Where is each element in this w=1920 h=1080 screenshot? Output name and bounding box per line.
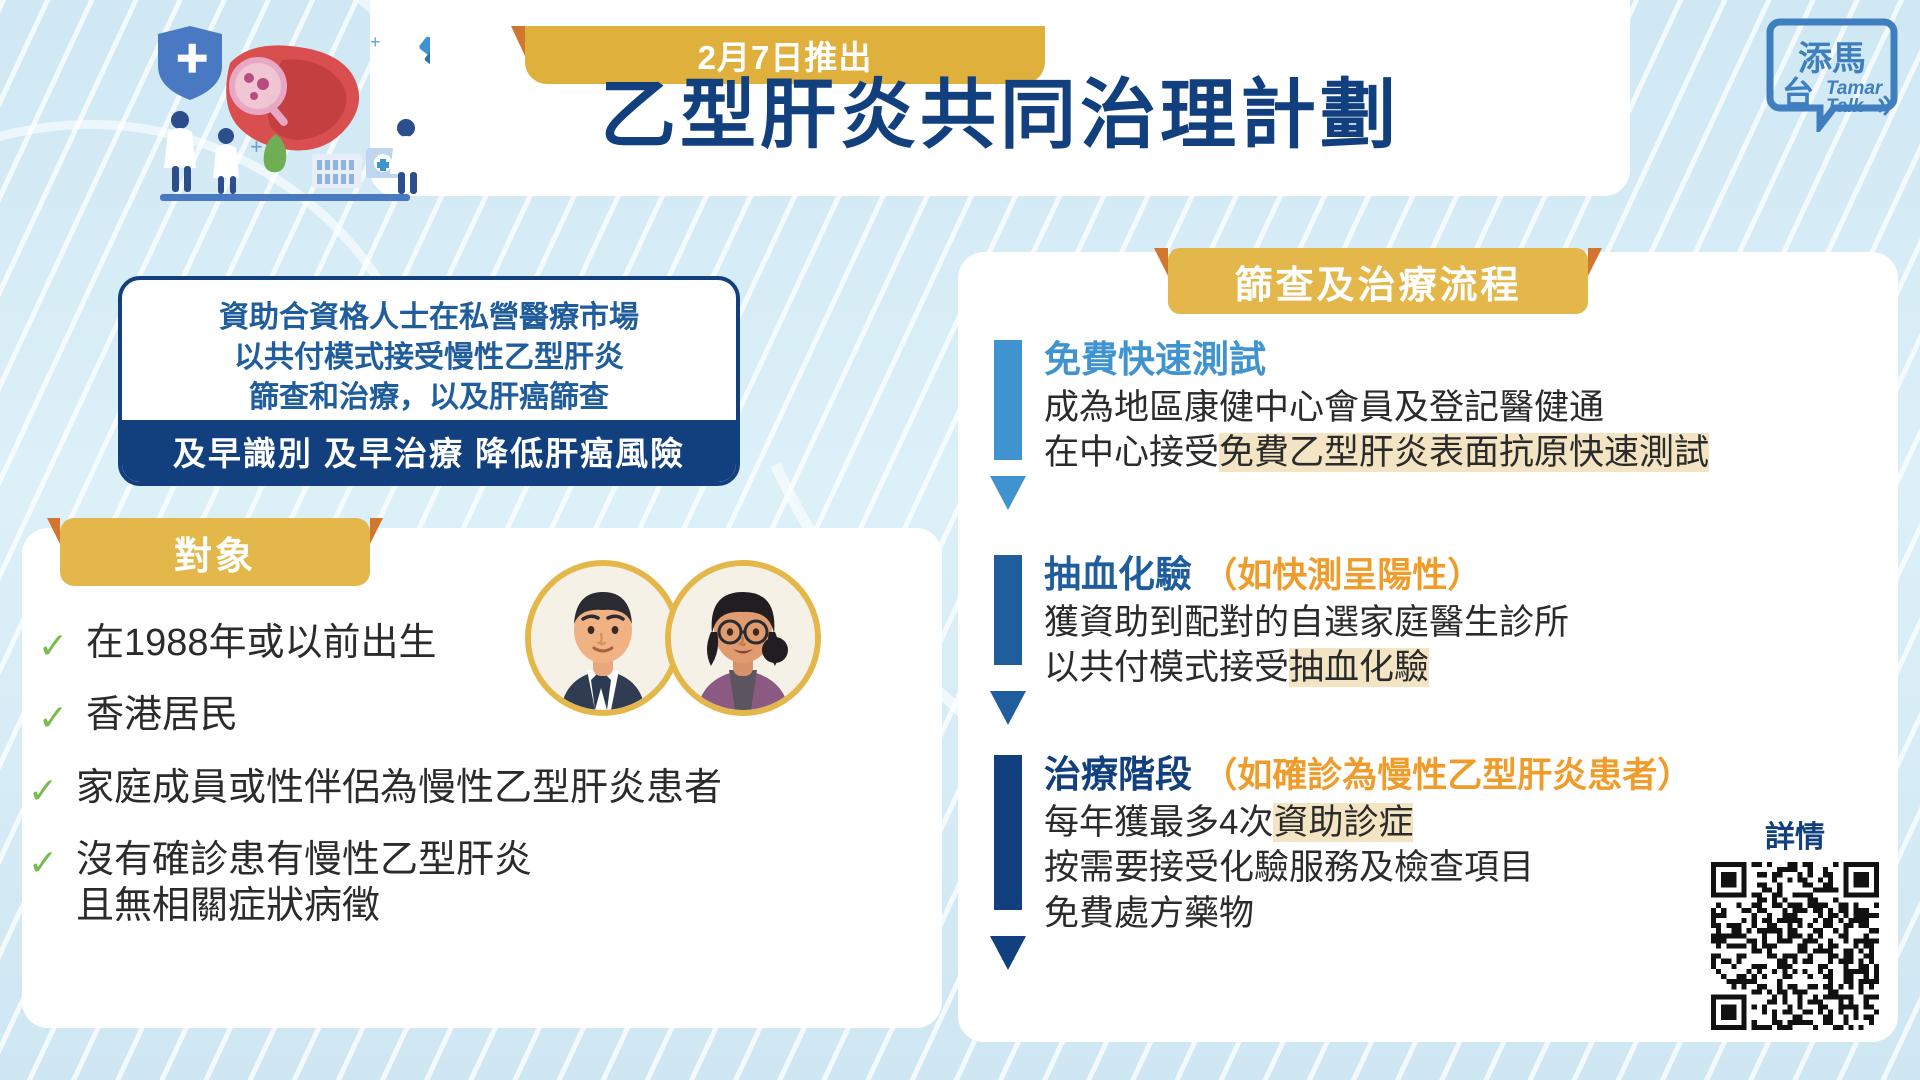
badge-fold-icon: [511, 26, 525, 56]
check-icon: ✓: [38, 628, 78, 664]
qr-label: 詳情: [1700, 812, 1890, 856]
step-line-plain: 免費處方藥物: [1044, 894, 1254, 933]
logo-en-talk: Talk: [1826, 96, 1865, 117]
target-item-label: 在1988年或以前出生: [86, 620, 437, 666]
step-line: 以共付模式接受抽血化驗: [1044, 645, 1870, 691]
target-item-label: 香港居民: [86, 692, 238, 738]
step-title-label: 治療階段: [1044, 754, 1192, 795]
step-line-before: 每年獲最多4次: [1044, 803, 1273, 842]
step-title: 免費快速測試: [1044, 340, 1870, 381]
step-line-highlight: 免費乙型肝炎表面抗原快速測試: [1219, 433, 1709, 472]
process-badge: 篩查及治療流程: [1168, 248, 1588, 314]
logo-cn-text: 添馬: [1798, 40, 1866, 78]
step-title: 治療階段 （如確診為慢性乙型肝炎患者）: [1044, 755, 1870, 796]
step-line: 在中心接受免費乙型肝炎表面抗原快速測試: [1044, 430, 1870, 476]
avatar-female: [665, 560, 821, 716]
step-line-plain: 獲資助到配對的自選家庭醫生診所: [1044, 603, 1569, 642]
intro-line-3: 篩查和治療，以及肝癌篩查: [132, 378, 726, 418]
target-badge: 對象: [60, 518, 370, 586]
step-line-highlight: 資助診症: [1273, 803, 1413, 842]
page-title: 乙型肝炎共同治理計劃: [370, 78, 1630, 154]
target-item-label: 家庭成員或性伴侶為慢性乙型肝炎患者: [76, 765, 722, 811]
intro-line-1: 資助合資格人士在私營醫療市場: [132, 298, 726, 338]
step-line-plain: 成為地區康健中心會員及登記醫健通: [1044, 388, 1604, 427]
intro-slogan: 及早識別 及早治療 降低肝癌風險: [122, 420, 736, 482]
svg-text:+: +: [370, 32, 381, 52]
badge-fold-right-icon: [1588, 248, 1602, 276]
process-step-2: 抽血化驗 （如快測呈陽性） 獲資助到配對的自選家庭醫生診所 以共付模式接受抽血化…: [990, 555, 1870, 691]
logo-cn-text-2: 台: [1782, 75, 1814, 111]
down-arrow-icon: [990, 755, 1026, 936]
target-item-label: 沒有確診患有慢性乙型肝炎 且無相關症狀病徵: [76, 837, 532, 930]
qr-section: 詳情: [1700, 812, 1890, 1030]
tamar-talk-logo: 添馬 台 Tamar Talk: [1762, 12, 1902, 132]
process-step-1: 免費快速測試 成為地區康健中心會員及登記醫健通 在中心接受免費乙型肝炎表面抗原快…: [990, 340, 1870, 476]
qr-code[interactable]: [1711, 862, 1879, 1030]
step-line: 獲資助到配對的自選家庭醫生診所: [1044, 600, 1870, 646]
check-icon: ✓: [38, 700, 78, 736]
date-badge-label: 2月7日推出: [698, 31, 873, 79]
step-line-highlight: 抽血化驗: [1289, 648, 1429, 687]
process-badge-label: 篩查及治療流程: [1234, 254, 1521, 309]
badge-fold-left-icon: [1154, 248, 1168, 276]
badge-fold-left-icon: [47, 518, 60, 544]
step-line-plain: 按需要接受化驗服務及檢查項目: [1044, 848, 1534, 887]
avatar-group: [525, 560, 835, 720]
list-item: ✓ 沒有確診患有慢性乙型肝炎 且無相關症狀病徵: [28, 837, 918, 930]
list-item: ✓ 家庭成員或性伴侶為慢性乙型肝炎患者: [28, 765, 918, 811]
step-title-label: 免費快速測試: [1044, 339, 1266, 380]
step-line: 成為地區康健中心會員及登記醫健通: [1044, 385, 1870, 431]
down-arrow-icon: [990, 340, 1026, 476]
check-icon: ✓: [28, 773, 68, 809]
intro-text: 資助合資格人士在私營醫療市場 以共付模式接受慢性乙型肝炎 篩查和治療，以及肝癌篩…: [122, 280, 736, 418]
svg-text:+: +: [250, 134, 263, 159]
step-title: 抽血化驗 （如快測呈陽性）: [1044, 555, 1870, 596]
down-arrow-icon: [990, 555, 1026, 691]
intro-card: 資助合資格人士在私營醫療市場 以共付模式接受慢性乙型肝炎 篩查和治療，以及肝癌篩…: [118, 276, 740, 486]
avatar-male: [525, 560, 681, 716]
intro-line-2: 以共付模式接受慢性乙型肝炎: [132, 338, 726, 378]
badge-fold-right-icon: [370, 518, 383, 544]
step-title-label: 抽血化驗: [1044, 554, 1192, 595]
target-badge-label: 對象: [174, 525, 256, 580]
step-line-before: 以共付模式接受: [1044, 648, 1289, 687]
liver-illustration: + +: [130, 8, 430, 208]
step-title-note: （如確診為慢性乙型肝炎患者）: [1202, 756, 1692, 795]
step-line-before: 在中心接受: [1044, 433, 1219, 472]
check-icon: ✓: [28, 845, 68, 881]
step-title-note: （如快測呈陽性）: [1202, 556, 1482, 595]
